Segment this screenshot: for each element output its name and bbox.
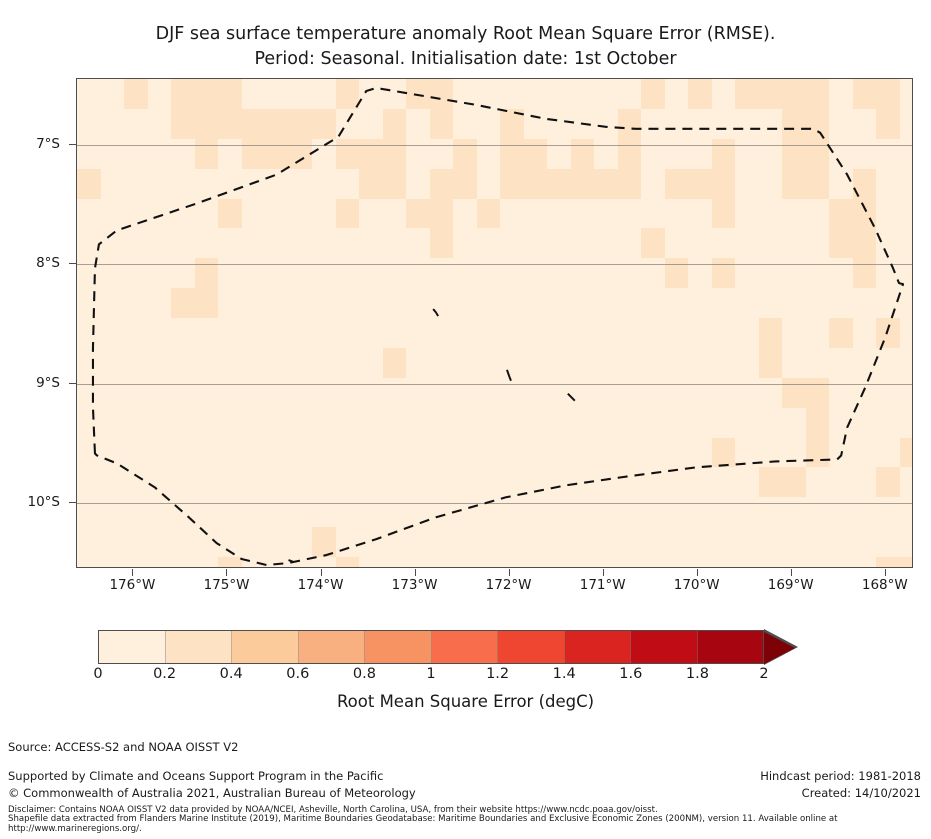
footer-meta: Hindcast period: 1981-2018 Created: 14/1… [760,768,921,802]
y-tick-label: 7°S [36,136,60,152]
x-tick-mark [226,569,227,576]
colorbar-tick-label: 0.6 [286,666,309,682]
y-tick-mark [69,383,76,384]
colorbar-band [432,631,499,663]
footer-disclaimer: Disclaimer: Contains NOAA OISST V2 data … [8,806,923,834]
x-tick-label: 176°W [109,577,155,593]
colorbar-tick-label: 0.8 [353,666,376,682]
colorbar-tick-label: 0.2 [153,666,176,682]
title-line-2: Period: Seasonal. Initialisation date: 1… [0,47,931,72]
x-tick-mark [509,569,510,576]
x-tick-label: 173°W [392,577,438,593]
colorbar-tick-label: 1.4 [553,666,576,682]
y-tick-label: 8°S [36,255,60,271]
colorbar-tick-label: 1 [426,666,435,682]
colorbar-band [365,631,432,663]
atoll-coastlines-layer [77,79,912,567]
colorbar-band [232,631,299,663]
colorbar-band [498,631,565,663]
x-tick-label: 168°W [862,577,908,593]
disclaimer-line-3: http://www.marineregions.org/. [8,825,923,835]
colorbar-tick-label: 0 [93,666,102,682]
x-tick-label: 175°W [204,577,250,593]
x-tick-mark [885,569,886,576]
y-axis: 7°S8°S9°S10°S [0,78,68,568]
colorbar-band [166,631,233,663]
colorbar-tick-label: 2 [759,666,768,682]
colorbar-band [565,631,632,663]
colorbar-tick-label: 1.6 [619,666,642,682]
colorbar-band [631,631,698,663]
y-tick-mark [69,263,76,264]
page-title: DJF sea surface temperature anomaly Root… [0,22,931,72]
x-tick-mark [697,569,698,576]
hindcast-period: Hindcast period: 1981-2018 [760,768,921,785]
colorbar[interactable]: 00.20.40.60.811.21.41.61.82 [98,630,798,664]
x-tick-label: 170°W [674,577,720,593]
x-tick-label: 171°W [580,577,626,593]
colorbar-band [299,631,366,663]
colorbar-band [698,631,764,663]
y-tick-label: 9°S [36,375,60,391]
colorbar-tick-label: 0.4 [220,666,243,682]
footer-copyright: © Commonwealth of Australia 2021, Austra… [8,785,416,802]
y-tick-label: 10°S [28,494,61,510]
colorbar-band [99,631,166,663]
x-tick-label: 169°W [768,577,814,593]
x-tick-mark [791,569,792,576]
disclaimer-line-2: Shapefile data extracted from Flanders M… [8,815,923,825]
footer-support: Supported by Climate and Oceans Support … [8,768,416,802]
map-plot-area[interactable] [76,78,913,568]
colorbar-tick-label: 1.2 [486,666,509,682]
colorbar-title: Root Mean Square Error (degC) [0,692,931,711]
created-date: Created: 14/10/2021 [760,785,921,802]
x-tick-label: 172°W [486,577,532,593]
footer-support-line-1: Supported by Climate and Oceans Support … [8,768,416,785]
y-tick-mark [69,144,76,145]
x-tick-label: 174°W [298,577,344,593]
y-tick-mark [69,502,76,503]
footer-source: Source: ACCESS-S2 and NOAA OISST V2 [8,740,238,754]
colorbar-segments [98,630,764,664]
colorbar-over-arrow [764,632,795,664]
x-tick-mark [321,569,322,576]
x-tick-mark [132,569,133,576]
x-tick-mark [603,569,604,576]
colorbar-tick-label: 1.8 [686,666,709,682]
x-tick-mark [415,569,416,576]
title-line-1: DJF sea surface temperature anomaly Root… [0,22,931,47]
